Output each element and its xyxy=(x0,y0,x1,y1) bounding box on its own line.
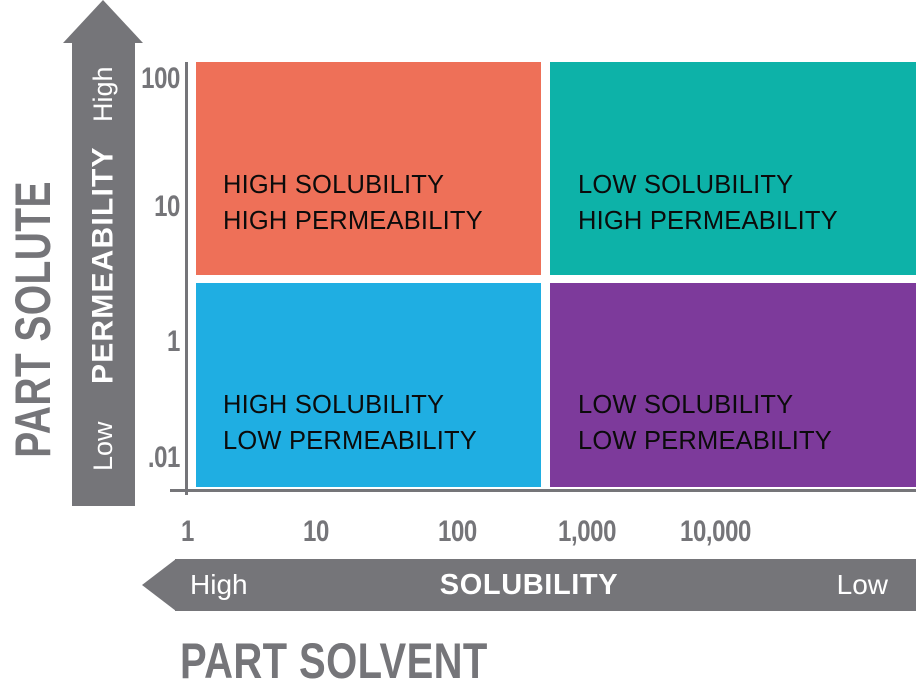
quadrant-line-1: HIGH SOLUBILITY xyxy=(223,167,444,203)
permeability-axis-title: PERMEABILITY xyxy=(72,140,135,390)
arrow-up-icon xyxy=(63,0,143,43)
quadrant-low-solubility-high-permeability: LOW SOLUBILITY HIGH PERMEABILITY xyxy=(550,62,916,275)
solubility-permeability-quadrant-chart: HIGH SOLUBILITY HIGH PERMEABILITY LOW SO… xyxy=(0,0,916,698)
permeability-axis-arrow: High PERMEABILITY Low xyxy=(63,0,144,506)
permeability-high-label: High xyxy=(72,52,135,136)
quadrant-high-solubility-high-permeability: HIGH SOLUBILITY HIGH PERMEABILITY xyxy=(196,62,541,275)
part-solvent-label: PART SOLVENT xyxy=(180,632,488,690)
solubility-axis-title: SOLUBILITY xyxy=(142,559,916,611)
x-axis-tick-label: 100 xyxy=(438,515,477,549)
part-solute-label: PART SOLUTE xyxy=(4,200,62,457)
quadrant-line-1: LOW SOLUBILITY xyxy=(578,387,793,423)
permeability-low-label: Low xyxy=(72,400,135,492)
quadrant-line-1: HIGH SOLUBILITY xyxy=(223,387,444,423)
x-axis-tick-label: 10 xyxy=(303,515,329,549)
quadrant-high-solubility-low-permeability: HIGH SOLUBILITY LOW PERMEABILITY xyxy=(196,283,541,487)
quadrant-line-1: LOW SOLUBILITY xyxy=(578,167,793,203)
solubility-axis-arrow: High SOLUBILITY Low xyxy=(142,559,916,611)
x-axis-line xyxy=(170,489,916,492)
solubility-low-label: Low xyxy=(837,559,888,611)
quadrant-line-2: LOW PERMEABILITY xyxy=(578,423,832,459)
quadrant-line-2: HIGH PERMEABILITY xyxy=(223,203,483,239)
x-axis-tick-label: 10,000 xyxy=(680,515,751,549)
y-axis-line xyxy=(185,62,188,495)
x-axis-tick-label: 1,000 xyxy=(558,515,616,549)
quadrant-low-solubility-low-permeability: LOW SOLUBILITY LOW PERMEABILITY xyxy=(550,283,916,487)
x-axis-tick-label: 1 xyxy=(181,515,194,549)
quadrant-line-2: HIGH PERMEABILITY xyxy=(578,203,838,239)
quadrant-line-2: LOW PERMEABILITY xyxy=(223,423,477,459)
x-axis-tick-labels: 1 10 100 1,000 10,000 xyxy=(0,515,916,555)
